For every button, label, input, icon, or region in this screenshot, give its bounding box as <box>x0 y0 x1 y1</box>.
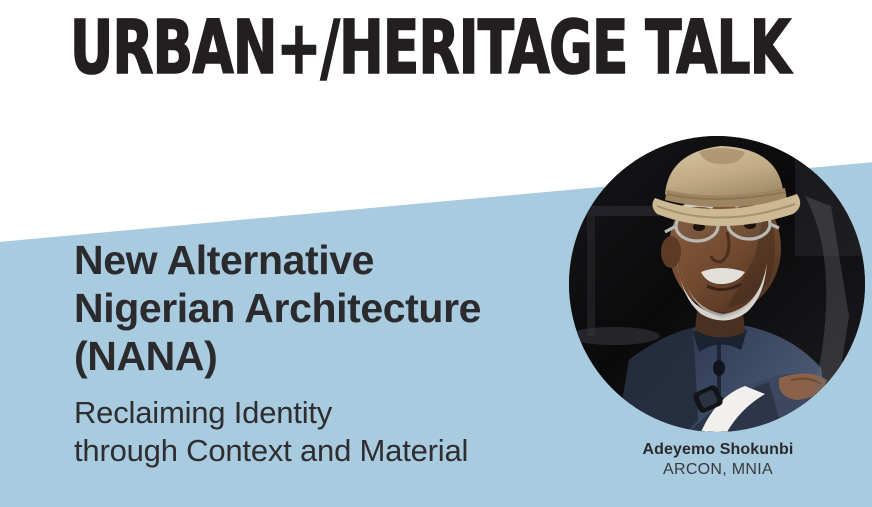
talk-title-line-3: (NANA) <box>74 332 604 380</box>
speaker-credentials: ARCON, MNIA <box>570 460 866 480</box>
talk-subtitle: Reclaiming Identity through Context and … <box>74 394 604 470</box>
speaker-photo <box>569 136 865 432</box>
speaker-caption: Adeyemo Shokunbi ARCON, MNIA <box>570 440 866 480</box>
talk-title-line-2: Nigerian Architecture <box>74 284 604 332</box>
poster-header: URBAN+/HERITAGE TALK <box>70 12 872 85</box>
talk-subtitle-line-2: through Context and Material <box>74 432 604 470</box>
talk-subtitle-line-1: Reclaiming Identity <box>74 394 604 432</box>
speaker-portrait-illustration <box>569 136 865 432</box>
speaker-name: Adeyemo Shokunbi <box>570 440 866 460</box>
event-poster: URBAN+/HERITAGE TALK New Alternative Nig… <box>0 0 872 507</box>
header-title: URBAN+/HERITAGE TALK <box>70 12 790 85</box>
talk-title-line-1: New Alternative <box>74 236 604 284</box>
talk-title: New Alternative Nigerian Architecture (N… <box>74 236 604 380</box>
talk-text-block: New Alternative Nigerian Architecture (N… <box>74 236 604 470</box>
